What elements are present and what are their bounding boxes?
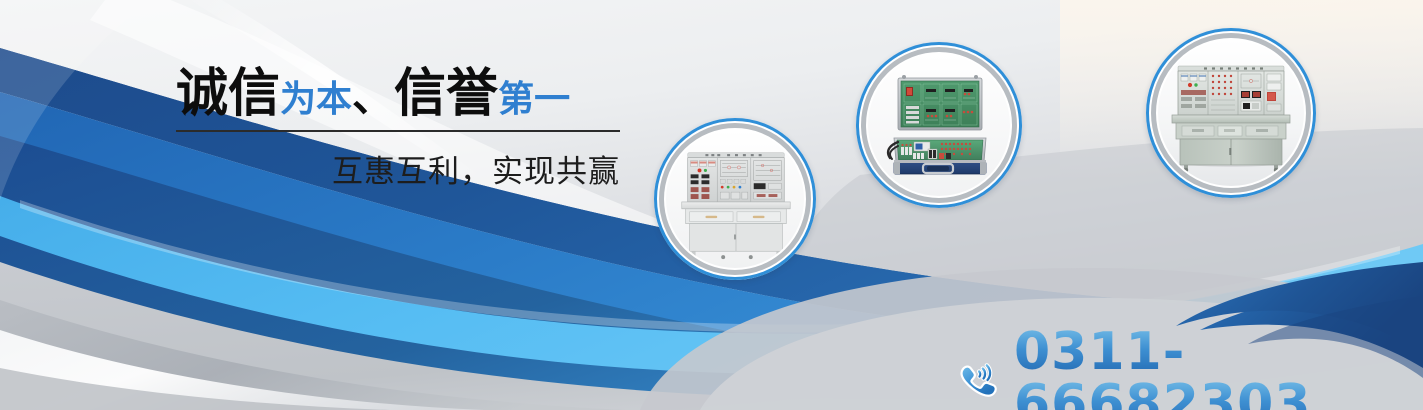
- headline-part1-big: 诚信: [176, 64, 280, 124]
- product-circle-3[interactable]: [1146, 28, 1316, 198]
- phone-call-icon: [952, 354, 1000, 402]
- product-image-electrical-training-workbench: [666, 130, 804, 268]
- phone-number[interactable]: 0311-66682303: [1014, 322, 1311, 410]
- product-image-portable-electronics-training-case: [868, 54, 1010, 196]
- headline-punctuation: 、: [352, 72, 394, 121]
- product-image-electrical-lab-bench-cabinet: [1158, 40, 1304, 186]
- promo-banner: 诚信为本、信誉第一 互惠互利，实现共赢: [0, 0, 1423, 410]
- headline-block: 诚信为本、信誉第一 互惠互利，实现共赢: [176, 68, 620, 191]
- subtitle: 互惠互利，实现共赢: [176, 146, 620, 191]
- phone-number-wrap: 0311-66682303 0311-66682303: [1014, 326, 1423, 410]
- headline-divider: [176, 130, 620, 132]
- contact-phone-block[interactable]: 0311-66682303 0311-66682303: [952, 326, 1423, 410]
- headline-part1-small: 为本: [280, 79, 352, 120]
- product-circle-2[interactable]: [856, 42, 1022, 208]
- page-title: 诚信为本、信誉第一: [176, 68, 620, 120]
- product-circle-1[interactable]: [654, 118, 816, 280]
- headline-part2-big: 信誉: [394, 64, 498, 124]
- headline-part2-small: 第一: [498, 79, 570, 120]
